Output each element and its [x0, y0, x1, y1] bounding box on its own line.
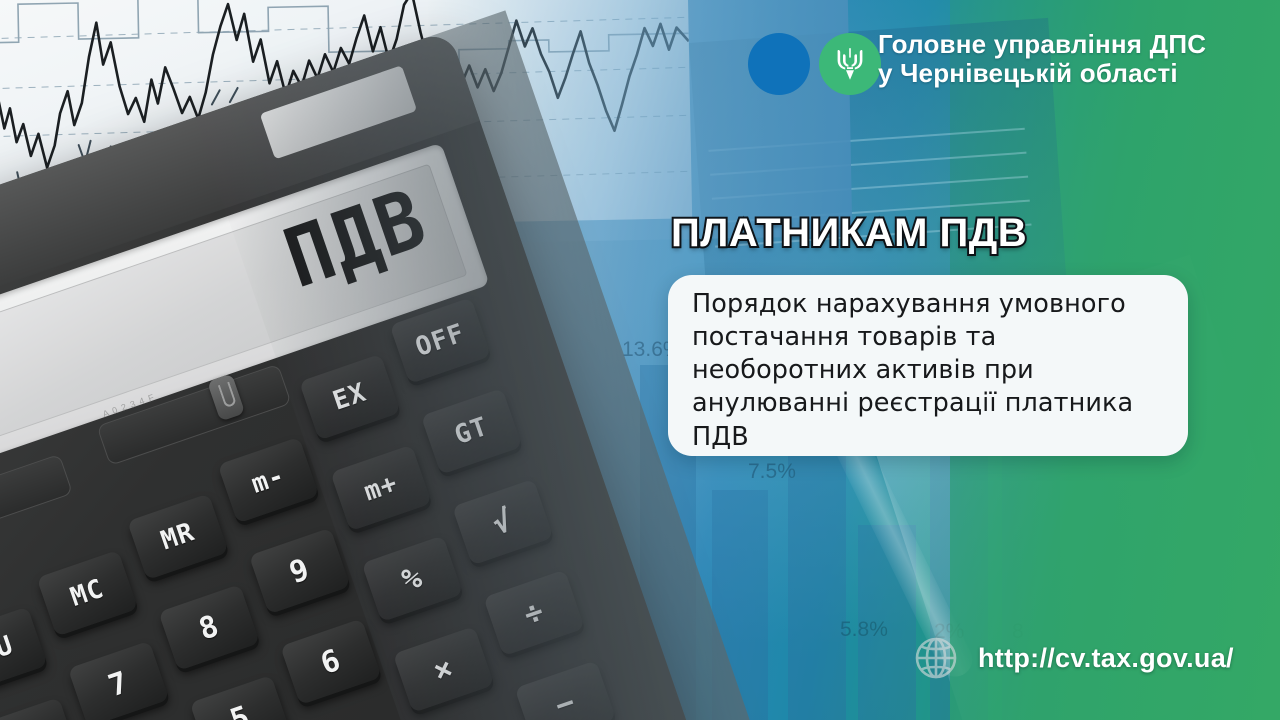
- globe-icon: [912, 634, 960, 682]
- banner-root: 13.6% 7.5% 14.8% 5.8% 14.% 14.9% 2% 8: [0, 0, 1280, 720]
- key-multiply[interactable]: ×: [393, 626, 494, 713]
- ukraine-trident-icon: [835, 47, 865, 81]
- org-line-2: у Чернівецькій області: [878, 59, 1278, 88]
- key-mr[interactable]: MR: [127, 493, 228, 580]
- key-divide[interactable]: ÷: [483, 570, 584, 657]
- key-8[interactable]: 8: [158, 584, 259, 671]
- logo-blue-circle: [748, 33, 810, 95]
- key-gt[interactable]: GT: [421, 388, 522, 475]
- key-mu[interactable]: MU: [0, 607, 48, 694]
- organization-title: Головне управління ДПС у Чернівецькій об…: [878, 30, 1278, 89]
- key-7[interactable]: 7: [68, 641, 169, 720]
- key-6[interactable]: 6: [280, 618, 381, 705]
- logo: [748, 33, 881, 95]
- key-5[interactable]: 5: [190, 675, 291, 720]
- logo-green-circle: [819, 33, 881, 95]
- key-sqrt[interactable]: √: [452, 479, 553, 566]
- lcd-value: ПДВ: [276, 178, 437, 302]
- key-9[interactable]: 9: [249, 528, 350, 615]
- description-text: Порядок нарахування умовного постачання …: [692, 288, 1176, 454]
- key-mc[interactable]: MC: [37, 550, 138, 637]
- key-m-plus[interactable]: m+: [330, 445, 431, 532]
- org-line-1: Головне управління ДПС: [878, 29, 1206, 59]
- website-bar[interactable]: http://cv.tax.gov.ua/: [912, 634, 1234, 682]
- description-card: Порядок нарахування умовного постачання …: [668, 275, 1188, 456]
- key-minus[interactable]: −: [515, 660, 616, 720]
- key-arrow[interactable]: ▶: [0, 697, 79, 720]
- headline: ПЛАТНИКАМ ПДВ: [671, 211, 1027, 256]
- key-m-minus[interactable]: m-: [218, 437, 319, 524]
- website-url[interactable]: http://cv.tax.gov.ua/: [978, 643, 1234, 674]
- key-percent[interactable]: %: [362, 535, 463, 622]
